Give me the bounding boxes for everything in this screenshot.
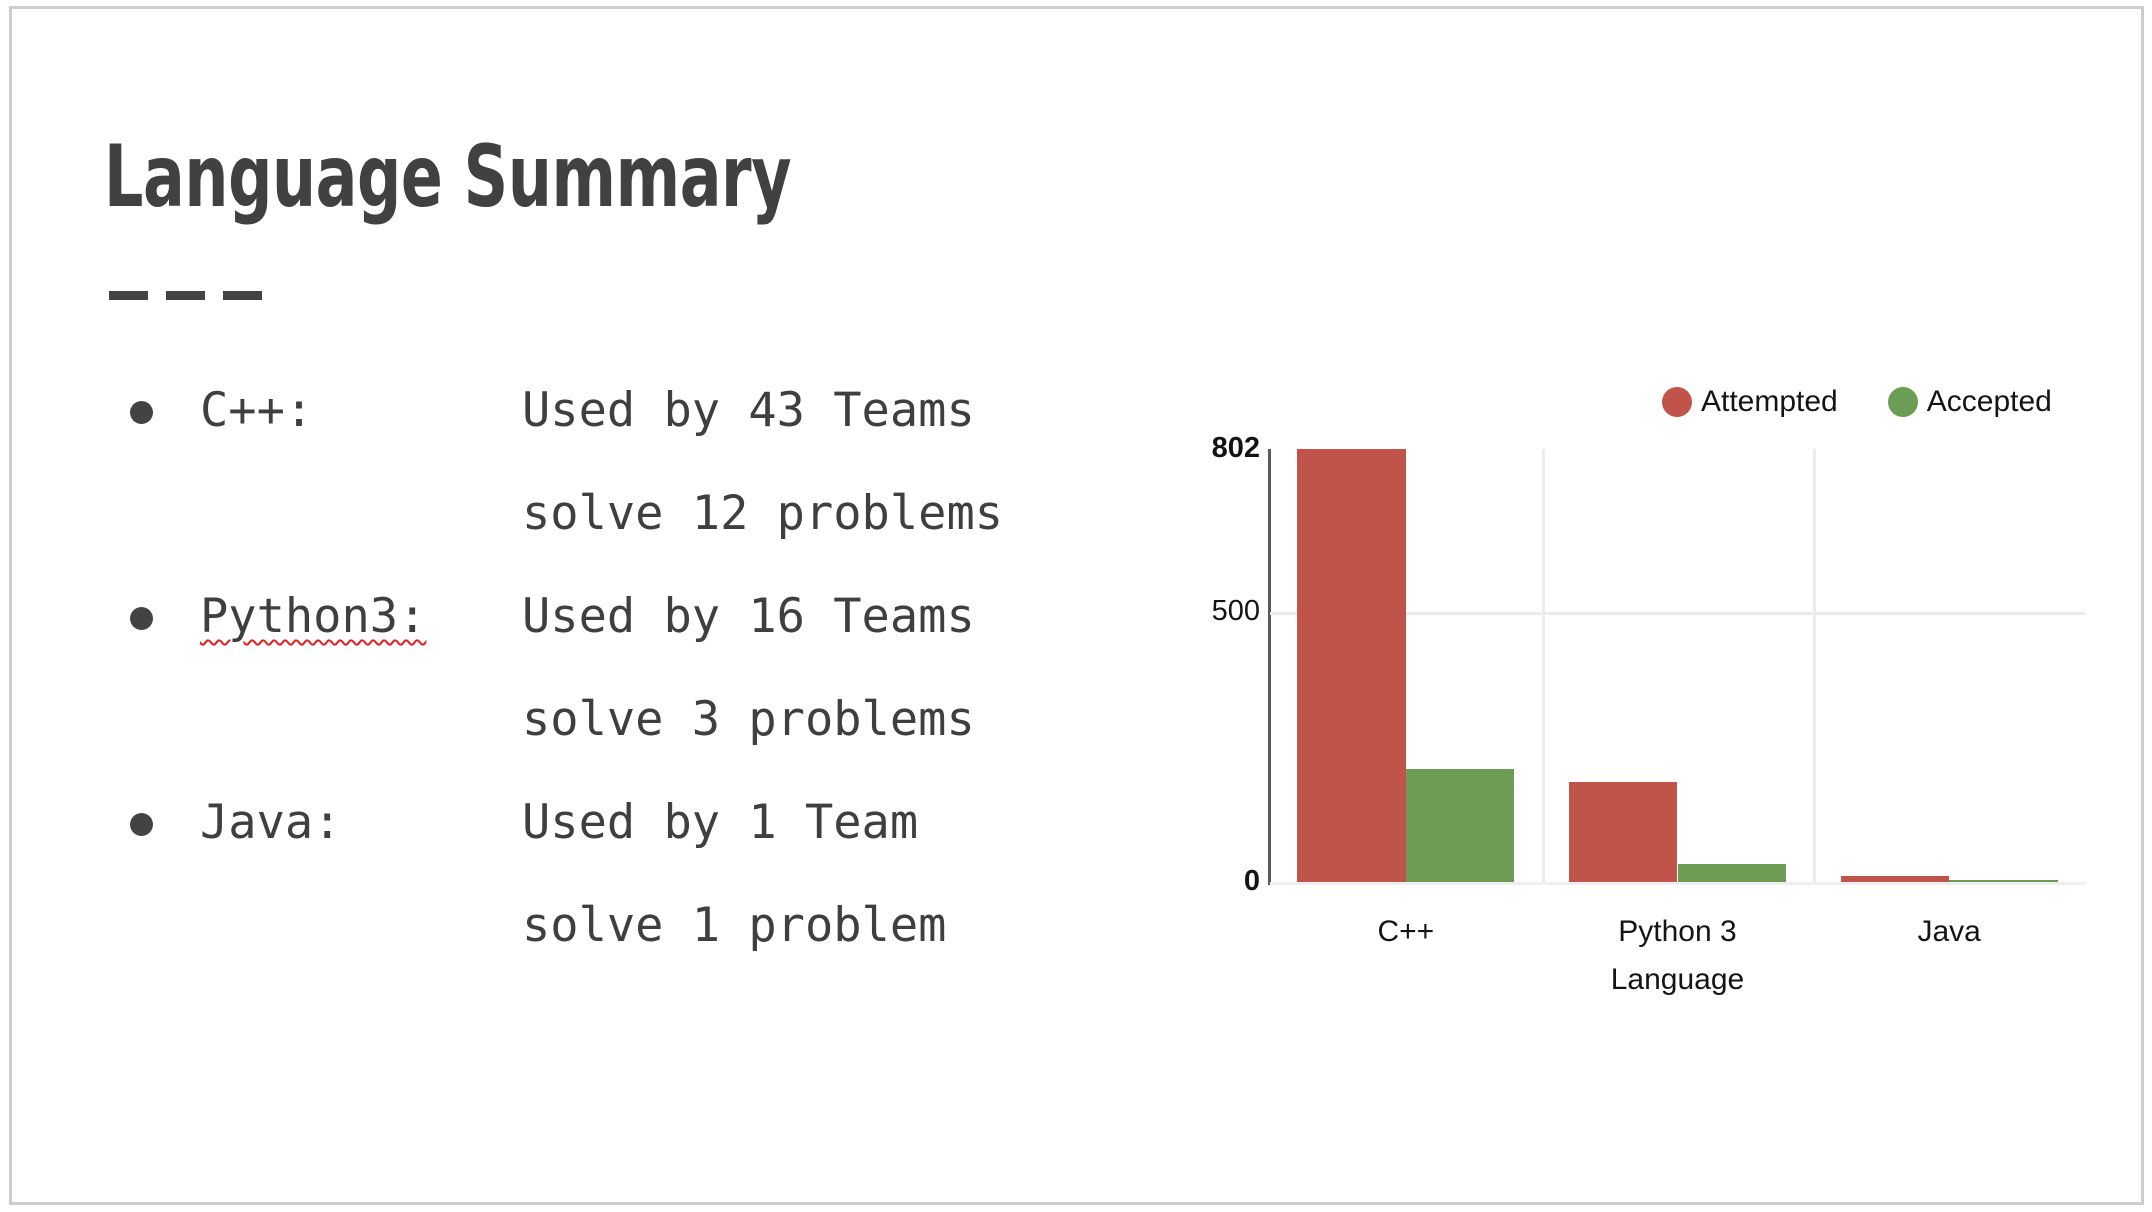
x-axis-baseline [1270,882,2085,885]
y-tick-500: 500 [1212,597,1260,626]
list-item: Java: Used by 1 Team [104,789,1144,892]
list-item: C++: Used by 43 Teams [104,377,1144,480]
bar-java-accepted [1949,880,2058,882]
plot-area [1270,449,2085,962]
page-title: Language Summary [104,134,791,220]
divider-dash-3 [223,291,262,300]
gridline-category-2 [1813,449,1816,882]
y-axis-line [1268,449,1271,885]
x-tick-java: Java [1829,917,2069,947]
bullet-language-label: C++: [200,377,313,445]
legend-swatch-attempted-icon [1662,387,1692,417]
x-axis-label: Language [1270,965,2085,995]
legend-item-attempted[interactable]: Attempted [1662,387,1838,417]
legend-label-accepted: Accepted [1927,387,2052,417]
bar-java-attempted [1841,876,1950,882]
bullet-dot-icon [130,813,153,836]
language-bar-chart: Attempted Accepted 802 500 0 C++ Python … [1192,369,2102,979]
y-tick-802: 802 [1212,434,1260,463]
plot-inner [1270,449,2085,882]
bullet-solved-text: solve 1 problem [522,892,946,960]
gridline-category-1 [1542,449,1545,882]
bullet-usage-text: Used by 1 Team [522,789,918,857]
list-item-detail: solve 1 problem [104,892,1144,995]
bullet-dot-icon [130,607,153,630]
bullet-solved-text: solve 12 problems [522,480,1003,548]
legend-swatch-accepted-icon [1888,387,1918,417]
bar-python3-attempted [1569,782,1678,882]
y-tick-0: 0 [1244,867,1260,896]
bullet-list: C++: Used by 43 Teams solve 12 problems … [104,377,1144,995]
bullet-dot-icon [130,401,153,424]
bullet-language-label: Python3: [200,583,426,651]
list-item-detail: solve 12 problems [104,480,1144,583]
bar-python3-accepted [1678,864,1787,882]
chart-legend: Attempted Accepted [1662,387,2052,417]
bullet-language-label: Java: [200,789,341,857]
bar-c-accepted [1406,769,1515,882]
y-axis-ticks: 802 500 0 [1192,449,1260,882]
x-tick-cpp: C++ [1286,917,1526,947]
list-item: Python3: Used by 16 Teams [104,583,1144,686]
legend-label-attempted: Attempted [1701,387,1838,417]
divider-dash-1 [109,291,148,300]
bullet-usage-text: Used by 43 Teams [522,377,975,445]
divider-dash-2 [166,291,205,300]
x-tick-python3: Python 3 [1558,917,1798,947]
list-item-detail: solve 3 problems [104,686,1144,789]
bar-c-attempted [1297,449,1406,882]
slide-canvas: Language Summary C++: Used by 43 Teams s… [9,6,2144,1205]
title-divider [109,291,262,300]
bullet-solved-text: solve 3 problems [522,686,975,754]
bullet-usage-text: Used by 16 Teams [522,583,975,651]
legend-item-accepted[interactable]: Accepted [1888,387,2052,417]
